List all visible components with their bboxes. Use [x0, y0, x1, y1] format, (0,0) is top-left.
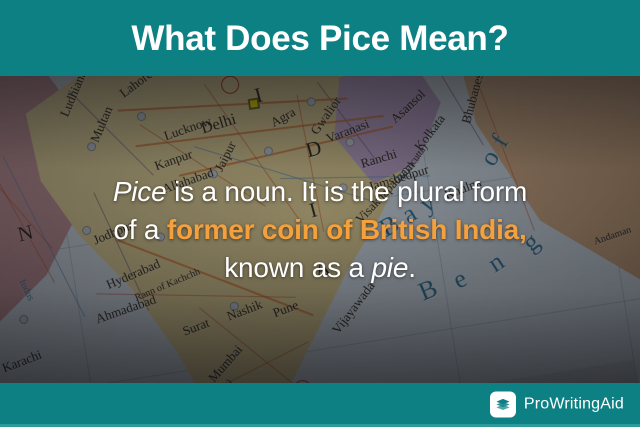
brand-name: ProWritingAid	[524, 395, 624, 413]
social-card: What Does Pice Mean?	[0, 0, 640, 427]
header-bar: What Does Pice Mean?	[0, 0, 640, 76]
background-map-photo: T A N I D I A M Y A N Bay of B e n g Mul…	[0, 76, 640, 383]
map-darkening-overlay	[0, 76, 640, 383]
footer-bar: ProWritingAid	[0, 383, 640, 427]
book-pages-icon	[490, 391, 516, 417]
brand-logo[interactable]: ProWritingAid	[490, 391, 624, 417]
page-title: What Does Pice Mean?	[131, 21, 508, 56]
